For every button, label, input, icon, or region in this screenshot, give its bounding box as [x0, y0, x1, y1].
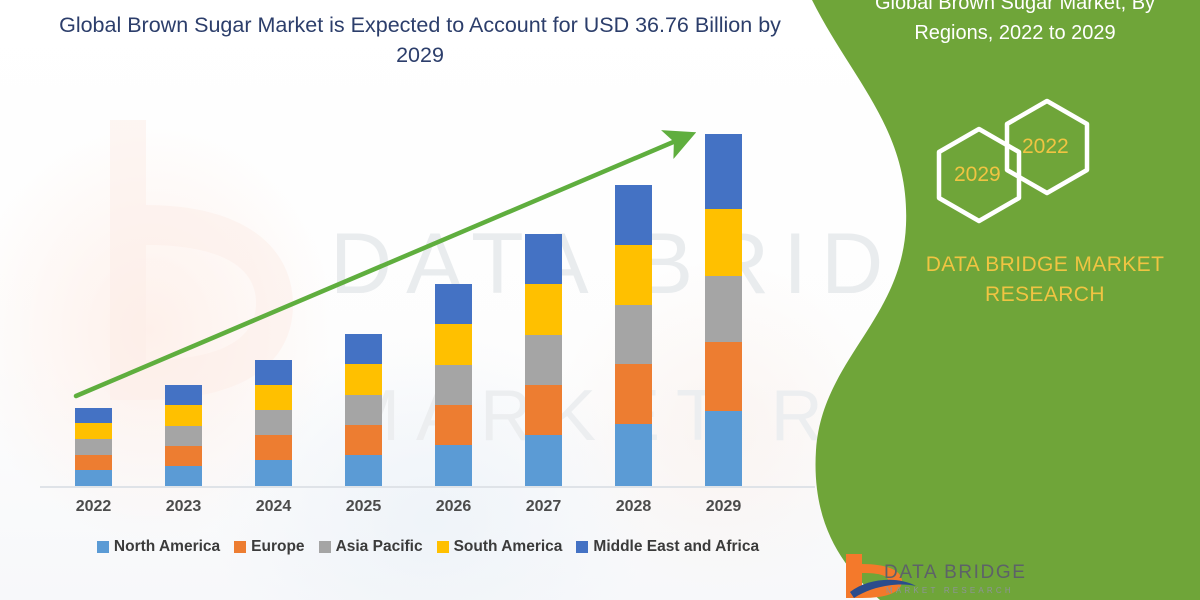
- bar-2028: [615, 185, 652, 486]
- bar-segment-europe: [435, 405, 472, 445]
- legend-label: South America: [454, 538, 563, 556]
- bar-2022: [75, 408, 112, 486]
- bar-segment-middle-east-and-africa: [525, 234, 562, 284]
- bar-segment-south-america: [525, 284, 562, 335]
- bar-segment-middle-east-and-africa: [705, 134, 742, 209]
- legend-swatch-icon: [437, 541, 449, 553]
- bar-segment-middle-east-and-africa: [345, 334, 382, 364]
- bar-segment-middle-east-and-africa: [165, 385, 202, 405]
- bar-2023: [165, 385, 202, 486]
- bar-segment-middle-east-and-africa: [435, 284, 472, 324]
- x-axis-label-2028: 2028: [589, 498, 679, 516]
- bar-segment-europe: [615, 364, 652, 424]
- legend-label: North America: [114, 538, 220, 556]
- bar-segment-south-america: [435, 324, 472, 365]
- legend-item-middle-east-and-africa[interactable]: Middle East and Africa: [576, 538, 759, 556]
- x-axis-label-2023: 2023: [139, 498, 229, 516]
- chart-plot-area: 20222023202420252026202720282029: [0, 0, 820, 600]
- bar-segment-europe: [75, 455, 112, 470]
- x-axis-label-2026: 2026: [409, 498, 499, 516]
- bar-segment-asia-pacific: [525, 335, 562, 385]
- bar-segment-middle-east-and-africa: [255, 360, 292, 385]
- bar-segment-north-america: [435, 445, 472, 486]
- bar-segment-south-america: [255, 385, 292, 410]
- logo-wordmark: DATA BRIDGE: [884, 562, 1027, 584]
- bar-2029: [705, 134, 742, 486]
- bar-segment-south-america: [165, 405, 202, 426]
- bar-segment-europe: [705, 342, 742, 411]
- legend-label: Asia Pacific: [336, 538, 423, 556]
- legend-label: Middle East and Africa: [593, 538, 759, 556]
- hex-label-start: 2022: [1022, 135, 1069, 159]
- legend-item-north-america[interactable]: North America: [97, 538, 220, 556]
- hex-label-end: 2029: [954, 163, 1001, 187]
- brand-name: DATA BRIDGE MARKET RESEARCH: [880, 250, 1200, 310]
- bar-segment-asia-pacific: [615, 305, 652, 364]
- bar-segment-north-america: [345, 455, 382, 486]
- bar-segment-north-america: [255, 460, 292, 486]
- bar-segment-asia-pacific: [165, 426, 202, 446]
- bar-segment-asia-pacific: [705, 276, 742, 342]
- bar-segment-asia-pacific: [255, 410, 292, 435]
- bar-2025: [345, 334, 382, 486]
- bar-segment-asia-pacific: [75, 439, 112, 455]
- x-axis-label-2024: 2024: [229, 498, 319, 516]
- bar-segment-middle-east-and-africa: [615, 185, 652, 245]
- legend-swatch-icon: [97, 541, 109, 553]
- x-axis-line: [40, 486, 815, 488]
- chart-legend: North AmericaEuropeAsia PacificSouth Ame…: [48, 538, 808, 556]
- bar-segment-europe: [345, 425, 382, 455]
- bar-segment-europe: [525, 385, 562, 435]
- bar-2024: [255, 360, 292, 486]
- bar-segment-south-america: [345, 364, 382, 395]
- legend-item-europe[interactable]: Europe: [234, 538, 304, 556]
- x-axis-label-2022: 2022: [49, 498, 139, 516]
- legend-swatch-icon: [576, 541, 588, 553]
- bar-segment-asia-pacific: [435, 365, 472, 405]
- bar-segment-europe: [165, 446, 202, 466]
- bar-segment-europe: [255, 435, 292, 460]
- brand-panel-heading: Global Brown Sugar Market, By Regions, 2…: [835, 0, 1195, 48]
- bar-2026: [435, 284, 472, 486]
- bar-segment-middle-east-and-africa: [75, 408, 112, 423]
- bar-segment-north-america: [705, 411, 742, 486]
- bar-segment-north-america: [615, 424, 652, 486]
- legend-item-asia-pacific[interactable]: Asia Pacific: [319, 538, 423, 556]
- bar-segment-north-america: [165, 466, 202, 486]
- legend-swatch-icon: [234, 541, 246, 553]
- bar-2027: [525, 234, 562, 486]
- bar-segment-south-america: [75, 423, 112, 439]
- bar-segment-south-america: [615, 245, 652, 305]
- legend-item-south-america[interactable]: South America: [437, 538, 563, 556]
- chart-infographic: DATA BRIDGE MARKET RESEARCH Global Brown…: [0, 0, 1200, 600]
- bar-segment-asia-pacific: [345, 395, 382, 425]
- legend-swatch-icon: [319, 541, 331, 553]
- x-axis-label-2027: 2027: [499, 498, 589, 516]
- bar-segment-south-america: [705, 209, 742, 276]
- hexagon-pair: 2022 2029: [925, 95, 1115, 235]
- legend-label: Europe: [251, 538, 304, 556]
- x-axis-label-2025: 2025: [319, 498, 409, 516]
- logo-tagline: MARKET RESEARCH: [886, 586, 1014, 595]
- bar-segment-north-america: [75, 470, 112, 486]
- bar-segment-north-america: [525, 435, 562, 486]
- x-axis-label-2029: 2029: [679, 498, 769, 516]
